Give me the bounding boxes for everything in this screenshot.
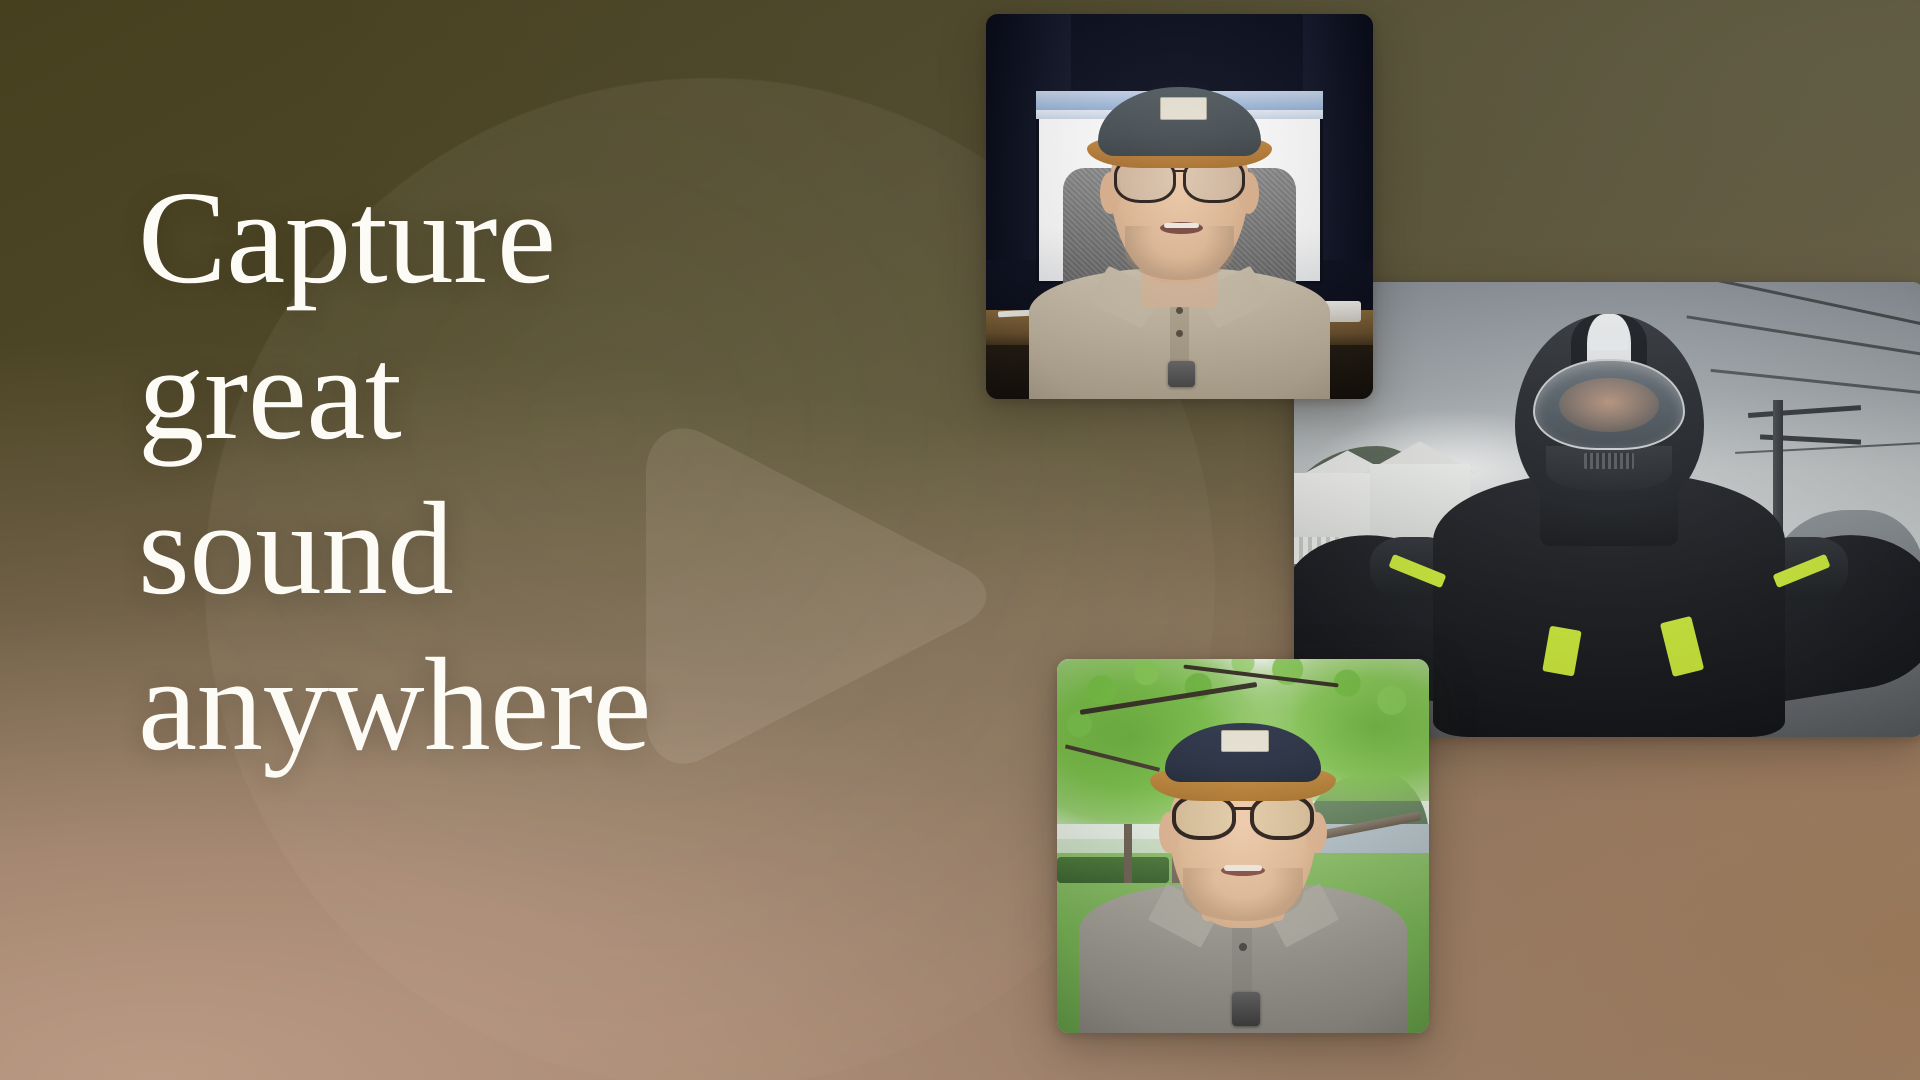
lavalier-microphone-icon xyxy=(1168,361,1195,388)
headline-line-4: anywhere xyxy=(138,627,878,783)
rider-face-behind-visor xyxy=(1559,378,1660,433)
teeth xyxy=(1224,865,1261,870)
desk-scene xyxy=(986,14,1373,399)
headline-line-3: sound xyxy=(138,471,878,627)
eyeglass-bridge xyxy=(1234,807,1253,810)
cap-patch xyxy=(1160,97,1206,120)
teeth xyxy=(1164,223,1199,229)
hedge xyxy=(1057,857,1169,883)
beard xyxy=(1183,868,1302,920)
video-thumbnail-desk[interactable] xyxy=(986,14,1373,399)
lavalier-microphone-icon xyxy=(1232,992,1260,1026)
tree-trunk xyxy=(1124,824,1132,884)
park-scene xyxy=(1057,659,1429,1033)
headline-line-1: Capture xyxy=(138,160,878,316)
headline-line-2: great xyxy=(138,316,878,472)
video-thumbnail-park[interactable] xyxy=(1057,659,1429,1033)
shirt-button xyxy=(1239,943,1246,950)
cap-patch xyxy=(1221,730,1269,752)
eyeglass-bridge xyxy=(1174,170,1188,173)
page-title: Capture great sound anywhere xyxy=(138,160,878,782)
helmet-logo xyxy=(1590,332,1628,350)
slide-canvas: Capture great sound anywhere xyxy=(0,0,1920,1080)
helmet-vent xyxy=(1584,453,1634,469)
